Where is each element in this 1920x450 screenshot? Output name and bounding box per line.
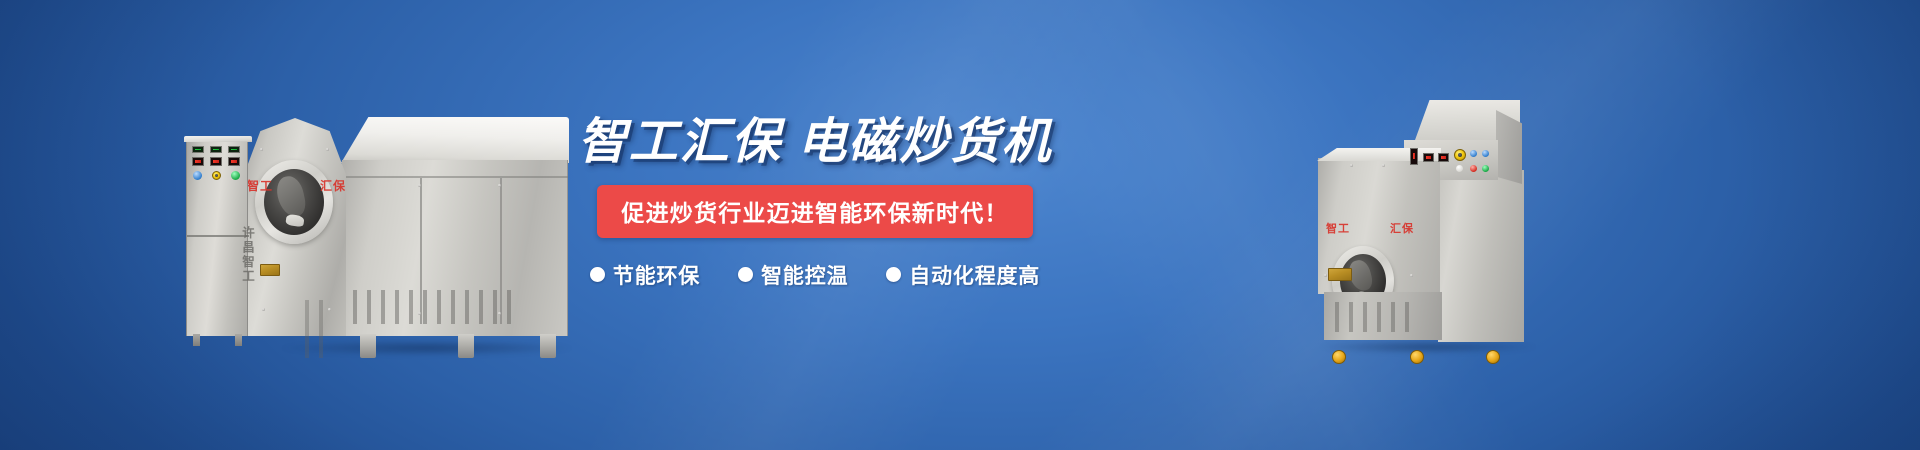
machine-left-cabinet-leg [235, 334, 242, 346]
machine-left-selector-switch[interactable] [193, 171, 202, 180]
machine-right-button-blue-2[interactable] [1482, 150, 1489, 157]
machine-left-bolt [328, 308, 331, 311]
machine-right-brand-mark-left: 智工 [1326, 224, 1350, 235]
machine-right-bolt [1410, 274, 1413, 277]
bullet-dot-icon [886, 267, 901, 282]
machine-left-porthole-ring [255, 160, 333, 244]
machine-right-nameplate [1328, 268, 1352, 281]
machine-left-display-red-3[interactable] [228, 157, 240, 166]
machine-left-display-green-1[interactable] [192, 146, 204, 153]
machine-left-nameplate [260, 264, 280, 276]
feature-item-smart-temperature: 智能控温 [738, 260, 848, 290]
tagline-ribbon-wrapper: 促进炒货行业迈进智能环保新时代！ [565, 185, 1065, 238]
machine-left-brand-mark-left: 智工 [247, 180, 273, 192]
machine-left-display-red-2[interactable] [210, 157, 222, 166]
machine-right-button-red[interactable] [1470, 165, 1477, 172]
machine-right-ground-shadow [1320, 340, 1536, 354]
machine-left-display-green-3[interactable] [228, 146, 240, 153]
feature-list: 节能环保 智能控温 自动化程度高 [565, 260, 1065, 290]
machine-right-control-panel [1410, 146, 1494, 176]
machine-right-button-green[interactable] [1482, 165, 1489, 172]
tagline-ribbon: 促进炒货行业迈进智能环保新时代！ [597, 185, 1032, 238]
machine-right-display-red-1[interactable] [1423, 153, 1434, 162]
machine-left-bolt [260, 148, 263, 151]
machine-right-rear-column [1438, 170, 1524, 342]
machine-left-display-green-2[interactable] [210, 146, 222, 153]
machine-left-bolt [326, 148, 329, 151]
machine-left-display-red-1[interactable] [192, 157, 204, 166]
machine-left-brand-mark-right: 汇保 [320, 180, 346, 192]
machine-left-photo: 智工 汇保 许昌智工 [186, 96, 568, 352]
machine-right-caster-wheel [1486, 350, 1500, 364]
machine-left-body-vent-louvers [348, 290, 516, 324]
machine-left-bolt [418, 312, 421, 315]
feature-label: 智能控温 [761, 260, 848, 290]
machine-left-panel-seam-horizontal [342, 176, 568, 178]
machine-right-bolt [1382, 164, 1385, 167]
bullet-dot-icon [738, 267, 753, 282]
machine-left-cabinet-leg [193, 334, 200, 346]
machine-left-control-panel [192, 146, 242, 184]
machine-right-bolt [1324, 274, 1327, 277]
feature-label: 节能环保 [613, 260, 700, 290]
machine-left-bolt [498, 312, 501, 315]
banner-text-block: 智工汇保 电磁炒货机 促进炒货行业迈进智能环保新时代！ 节能环保 智能控温 自动… [565, 118, 1065, 290]
bullet-dot-icon [590, 267, 605, 282]
machine-left-main-body [342, 160, 568, 336]
machine-left-body-top-cover [341, 117, 569, 163]
machine-right-caster-wheel [1332, 350, 1346, 364]
machine-left-cabinet-top [184, 136, 252, 142]
machine-left-bolt [498, 184, 501, 187]
machine-right-brand-mark-right: 汇保 [1390, 224, 1414, 235]
machine-right-lower-vent-louvers [1330, 302, 1416, 332]
machine-left-side-vent [300, 300, 326, 358]
machine-left-vertical-label: 许昌智工 [238, 226, 257, 284]
machine-left-leg [458, 334, 474, 358]
feature-item-automation: 自动化程度高 [886, 260, 1040, 290]
machine-right-photo: 智工 汇保 [1318, 100, 1550, 352]
machine-left-power-indicator[interactable] [231, 171, 240, 180]
machine-right-button-blue-1[interactable] [1470, 150, 1477, 157]
machine-left-emergency-stop-knob[interactable] [212, 171, 221, 180]
feature-label: 自动化程度高 [909, 260, 1040, 290]
machine-left-drum-contents [285, 214, 304, 227]
machine-left-porthole-opening [264, 169, 324, 235]
page-title: 智工汇保 电磁炒货机 [565, 118, 1065, 168]
machine-left-drum-blade [274, 173, 308, 218]
machine-left-drum-housing: 智工 汇保 [244, 118, 346, 336]
machine-right-emergency-stop-knob[interactable] [1454, 149, 1466, 161]
feature-item-energy-saving: 节能环保 [590, 260, 700, 290]
machine-right-button-white[interactable] [1456, 165, 1463, 172]
machine-right-display-red-2[interactable] [1438, 153, 1449, 162]
machine-left-bolt [262, 308, 265, 311]
machine-left-bolt [418, 184, 421, 187]
machine-right-caster-wheel [1410, 350, 1424, 364]
promo-banner: 智工 汇保 许昌智工 [0, 0, 1920, 450]
machine-left-leg [540, 334, 556, 358]
machine-right-display-module[interactable] [1410, 148, 1418, 165]
machine-right-bolt [1350, 164, 1353, 167]
machine-left-leg [360, 334, 376, 358]
